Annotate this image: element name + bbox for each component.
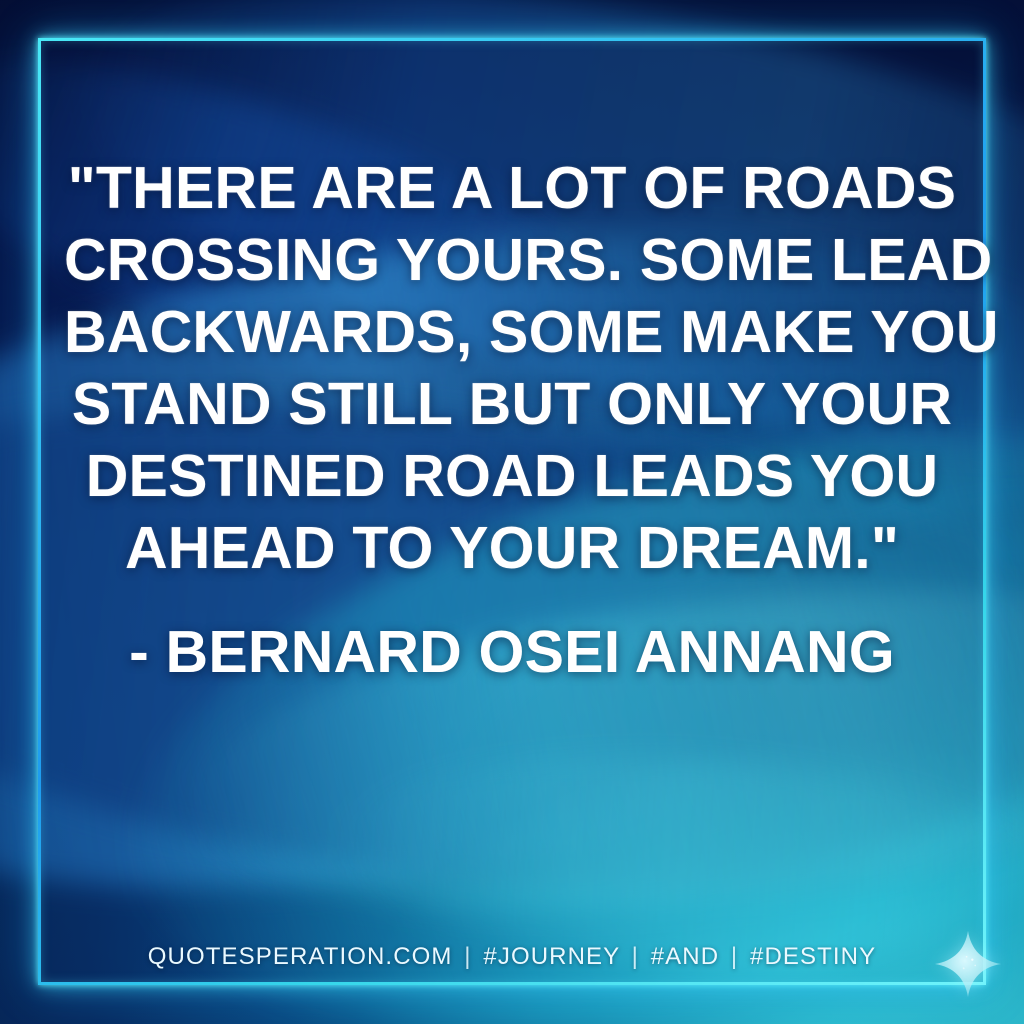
footer-credits: QUOTESPERATION.COM | #JOURNEY | #AND | #… <box>0 943 1024 971</box>
footer-hashtag-journey: #JOURNEY <box>483 943 619 970</box>
quote-line: AHEAD TO YOUR DREAM." <box>64 512 960 584</box>
quote-text: "THERE ARE A LOT OF ROADS CROSSING YOURS… <box>0 152 1024 584</box>
footer-separator: | <box>727 943 742 970</box>
card-content: "THERE ARE A LOT OF ROADS CROSSING YOURS… <box>0 0 1024 1024</box>
quote-line: "THERE ARE A LOT OF ROADS <box>64 152 960 224</box>
quote-line: BACKWARDS, SOME MAKE YOU <box>64 296 960 368</box>
footer-site: QUOTESPERATION.COM <box>148 943 453 970</box>
footer-hashtag-destiny: #DESTINY <box>750 943 876 970</box>
footer-separator: | <box>628 943 643 970</box>
quote-line: STAND STILL BUT ONLY YOUR <box>64 368 960 440</box>
footer-separator: | <box>460 943 475 970</box>
quote-line: DESTINED ROAD LEADS YOU <box>64 440 960 512</box>
quote-author: - BERNARD OSEI ANNANG <box>0 616 1024 688</box>
footer-hashtag-and: #AND <box>651 943 719 970</box>
quote-card: "THERE ARE A LOT OF ROADS CROSSING YOURS… <box>0 0 1024 1024</box>
sparkle-icon <box>932 928 1004 1000</box>
quote-line: CROSSING YOURS. SOME LEAD <box>64 224 960 296</box>
